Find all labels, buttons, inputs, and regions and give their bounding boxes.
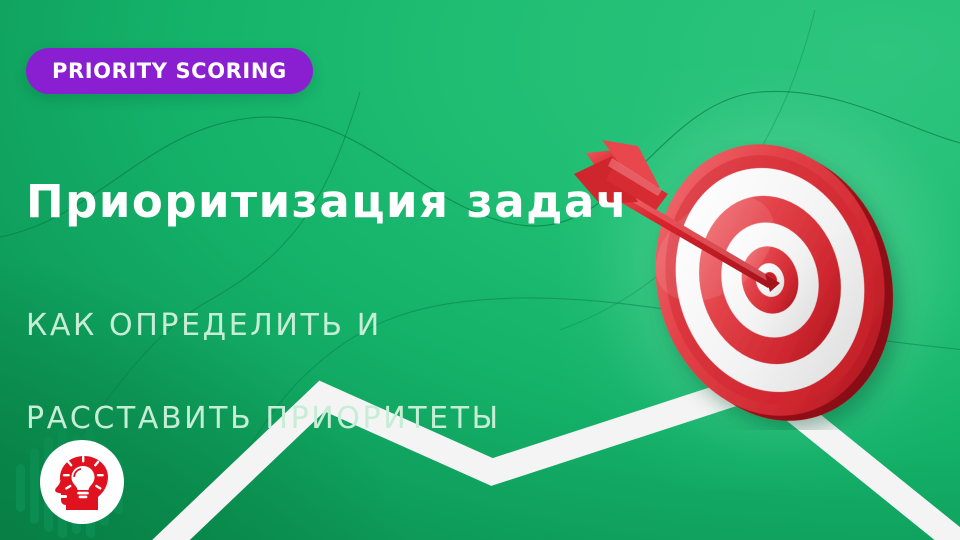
page-title: Приоритизация задач	[26, 178, 628, 225]
badge-label: PRIORITY SCORING	[52, 59, 287, 83]
brand-logo[interactable]	[14, 424, 136, 540]
logo-circle	[40, 440, 124, 524]
head-with-lightbulb-icon	[50, 450, 114, 514]
page-subtitle-line-1: КАК ОПРЕДЕЛИТЬ И	[26, 303, 501, 350]
dartboard-illustration	[572, 140, 960, 430]
poster-canvas: PRIORITY SCORING Приоритизация задач КАК…	[0, 0, 960, 540]
priority-scoring-badge[interactable]: PRIORITY SCORING	[26, 48, 313, 94]
